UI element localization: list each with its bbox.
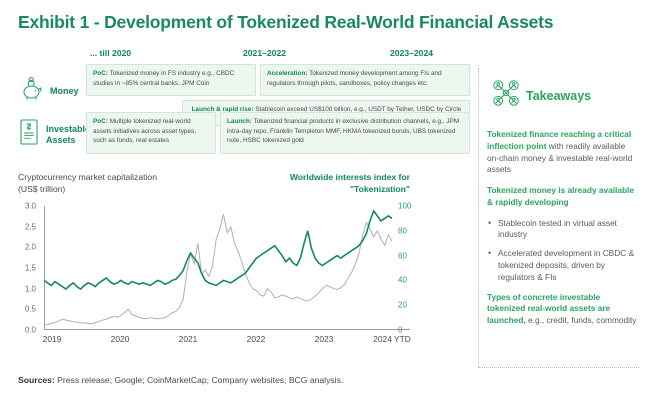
era-header-2: 2021–2022 [243,48,286,58]
document-icon [18,118,40,151]
x-axis-tick: 2019 [43,334,62,344]
era-header-3: 2023–2024 [390,48,433,58]
sources-label: Sources: [18,375,55,385]
era-header-1: ... till 2020 [90,48,131,58]
row-label-investable-assets: Investable Assets [18,118,90,151]
piggy-bank-icon [18,76,44,107]
left-axis-tick: 0.0 [25,326,36,335]
timeline-matrix: Money Investable Assets PoC: Tokenized m… [0,62,472,160]
row-label-money-text: Money [50,86,79,96]
takeaways-body: Tokenized finance reaching a critical in… [487,129,638,327]
cell-lead: Launch: [227,118,252,125]
chart-caption-right: Worldwide interests index for "Tokenizat… [260,172,410,195]
right-axis-tick: 20 [398,301,407,310]
takeaway-bullet: Stablecoin tested in virtual asset indus… [487,218,638,242]
left-axis-tick: 1.5 [25,264,36,273]
takeaways-panel: Takeaways Tokenized finance reaching a c… [478,68,638,368]
takeaway-highlight: Tokenized money is already available & r… [487,185,634,207]
row-label-investable-assets-text: Investable Assets [46,124,90,145]
right-y-axis-ticks: 020406080100 [392,206,432,330]
cell-assets-launch: Launch: Tokenized financial products in … [220,112,470,154]
x-axis-tick: 2022 [247,334,266,344]
left-axis-tick: 2.5 [25,222,36,231]
page-title: Exhibit 1 - Development of Tokenized Rea… [18,12,553,33]
x-axis-tick: 2023 [315,334,334,344]
chart-plot-area [44,206,392,330]
network-people-icon [491,78,521,113]
x-axis-ticks: 201920202021202220232024 YTD [44,334,392,348]
right-axis-tick: 80 [398,226,407,235]
cell-money-till-2020: PoC: Tokenized money in FS industry e.g.… [86,64,256,96]
chart-caption-left: Cryptocurrency market capitalization (US… [18,172,158,195]
cell-text: Tokenized money in FS industry e.g., CBD… [93,70,234,87]
series-line-crypto-marketcap [44,214,392,324]
left-axis-tick: 2.0 [25,243,36,252]
x-axis-tick: 2024 YTD [373,334,411,344]
left-y-axis-ticks: 0.00.51.01.52.02.53.0 [0,206,40,330]
cell-lead: PoC: [93,70,108,77]
takeaway-item: Types of concrete investable tokenized r… [487,292,638,327]
right-axis-tick: 100 [398,202,411,211]
cell-lead: PoC: [93,118,108,125]
row-label-money: Money [18,76,79,107]
x-axis-tick: 2020 [111,334,130,344]
left-axis-tick: 3.0 [25,202,36,211]
x-axis-tick: 2021 [179,334,198,344]
takeaway-item: Tokenized finance reaching a critical in… [487,129,638,176]
cell-assets-till-2020: PoC: Multiple tokenized real-world asset… [86,112,216,154]
takeaway-item: Tokenized money is already available & r… [487,185,638,209]
exhibit-page: Exhibit 1 - Development of Tokenized Rea… [0,0,648,410]
right-axis-tick: 40 [398,276,407,285]
panel-bottom-divider [479,367,639,368]
sources-text: Press release; Google; CoinMarketCap; Co… [55,375,344,385]
cell-money-2023-2024: Acceleration: Tokenized money developmen… [260,64,470,96]
takeaways-header: Takeaways [491,78,638,113]
left-axis-tick: 0.5 [25,305,36,314]
right-axis-tick: 60 [398,251,407,260]
left-axis-tick: 1.0 [25,284,36,293]
takeaway-text: e.g., credit, funds, commodity [526,315,637,325]
takeaways-title: Takeaways [526,89,591,103]
dual-axis-line-chart: Cryptocurrency market capitalization (US… [0,168,472,366]
series-line-tokenization-index [44,211,392,289]
cell-lead: Acceleration: [267,70,308,77]
cell-text: Multiple tokenized real-world assets ini… [93,118,196,144]
sources-note: Sources: Press release; Google; CoinMark… [18,375,343,385]
cell-text: Tokenized financial products in exclusiv… [227,118,459,144]
takeaway-bullet-list: Stablecoin tested in virtual asset indus… [487,218,638,284]
takeaway-bullet: Accelerated development in CBDC & tokeni… [487,248,638,283]
